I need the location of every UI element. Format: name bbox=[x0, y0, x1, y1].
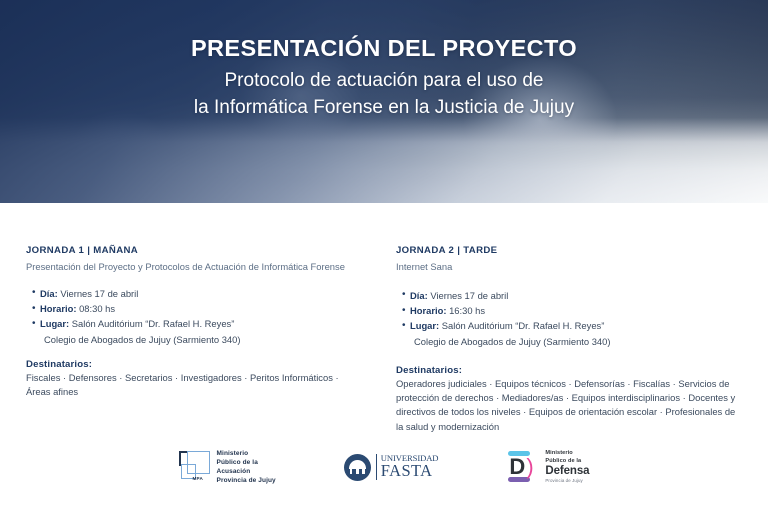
page-subtitle-line-1: Protocolo de actuación para el uso de bbox=[225, 70, 544, 91]
logo-universidad-fasta: UNIVERSIDAD FASTA bbox=[344, 454, 439, 481]
jornada-2-detail-list: Día: Viernes 17 de abril Horario: 16:30 … bbox=[396, 288, 746, 349]
detail-label: Horario: bbox=[410, 305, 446, 316]
mpa-line-3: Acusación bbox=[217, 468, 251, 475]
mpa-line-2: Público de la bbox=[217, 459, 258, 466]
page-title: PRESENTACIÓN DEL PROYECTO bbox=[0, 0, 768, 62]
list-item: Lugar: Salón Auditórium “Dr. Rafael H. R… bbox=[410, 318, 746, 348]
hero-text-block: PRESENTACIÓN DEL PROYECTO Protocolo de a… bbox=[0, 0, 768, 122]
detail-value: Salón Auditórium “Dr. Rafael H. Reyes” bbox=[442, 320, 605, 331]
jornada-2-title: JORNADA 2 | TARDE bbox=[396, 245, 746, 257]
jornada-2-description: Internet Sana bbox=[396, 260, 716, 273]
defensa-wordmark: Ministerio Público de la Defensa Provinc… bbox=[545, 450, 589, 483]
defensa-paren-icon: ) bbox=[526, 456, 533, 477]
jornada-2-destinatarios-body: Operadores judiciales · Equipos técnicos… bbox=[396, 377, 744, 434]
defensa-line-4: Provincia de Jujuy bbox=[545, 478, 589, 484]
detail-label: Día: bbox=[410, 290, 428, 301]
mpa-line-4: Provincia de Jujuy bbox=[217, 477, 276, 484]
detail-value: 08:30 hs bbox=[79, 303, 115, 314]
jornada-1-column: JORNADA 1 | MAÑANA Presentación del Proy… bbox=[0, 245, 368, 434]
detail-value: Salón Auditórium “Dr. Rafael H. Reyes” bbox=[72, 318, 235, 329]
detail-value: 16:30 hs bbox=[449, 305, 485, 316]
detail-subline: Colegio de Abogados de Jujuy (Sarmiento … bbox=[410, 334, 746, 349]
hero-banner: PRESENTACIÓN DEL PROYECTO Protocolo de a… bbox=[0, 0, 768, 203]
fasta-wordmark: UNIVERSIDAD FASTA bbox=[376, 454, 439, 480]
fasta-line-2: FASTA bbox=[381, 463, 439, 480]
jornada-1-destinatarios-title: Destinatarios: bbox=[26, 359, 358, 370]
list-item: Horario: 08:30 hs bbox=[40, 301, 358, 316]
content-area: JORNADA 1 | MAÑANA Presentación del Proy… bbox=[0, 203, 768, 513]
fasta-emblem-icon bbox=[344, 454, 371, 481]
flyer-root: PRESENTACIÓN DEL PROYECTO Protocolo de a… bbox=[0, 0, 768, 513]
defensa-line-2: Público de la bbox=[545, 458, 589, 465]
jornada-1-description: Presentación del Proyecto y Protocolos d… bbox=[26, 260, 346, 273]
logo-strip: MPA Ministerio Público de la Acusación P… bbox=[0, 439, 768, 495]
list-item: Día: Viernes 17 de abril bbox=[40, 286, 358, 301]
jornada-2-column: JORNADA 2 | TARDE Internet Sana Día: Vie… bbox=[368, 245, 768, 434]
logo-ministerio-publico-defensa: D ) Ministerio Público de la Defensa Pro… bbox=[506, 449, 589, 485]
jornada-2-destinatarios-title: Destinatarios: bbox=[396, 365, 746, 376]
defensa-letter-d: D bbox=[509, 456, 525, 477]
fasta-bars-icon bbox=[350, 463, 365, 474]
defensa-line-1: Ministerio bbox=[545, 450, 589, 457]
page-subtitle-line-2: la Informática Forense en la Justicia de… bbox=[0, 95, 768, 122]
detail-label: Lugar: bbox=[410, 320, 439, 331]
detail-label: Lugar: bbox=[40, 318, 69, 329]
jornadas-columns: JORNADA 1 | MAÑANA Presentación del Proy… bbox=[0, 245, 768, 434]
defensa-line-3: Defensa bbox=[545, 465, 589, 478]
list-item: Horario: 16:30 hs bbox=[410, 303, 746, 318]
list-item: Lugar: Salón Auditórium “Dr. Rafael H. R… bbox=[40, 316, 358, 346]
defensa-d-icon: D ) bbox=[506, 449, 540, 485]
logo-ministerio-publico-acusacion: MPA Ministerio Público de la Acusación P… bbox=[179, 449, 276, 486]
list-item: Día: Viernes 17 de abril bbox=[410, 288, 746, 303]
jornada-1-destinatarios-body: Fiscales · Defensores · Secretarios · In… bbox=[26, 371, 356, 400]
page-subtitle: Protocolo de actuación para el uso de la… bbox=[0, 62, 768, 122]
jornada-1-title: JORNADA 1 | MAÑANA bbox=[26, 245, 358, 257]
detail-value: Viernes 17 de abril bbox=[430, 290, 508, 301]
jornada-1-detail-list: Día: Viernes 17 de abril Horario: 08:30 … bbox=[26, 286, 358, 347]
mpa-wordmark: Ministerio Público de la Acusación Provi… bbox=[217, 449, 276, 486]
detail-subline: Colegio de Abogados de Jujuy (Sarmiento … bbox=[40, 332, 358, 347]
detail-value: Viernes 17 de abril bbox=[60, 288, 138, 299]
mpa-abbreviation: MPA bbox=[193, 476, 203, 481]
mpa-line-1: Ministerio bbox=[217, 450, 249, 457]
mpa-squares-icon: MPA bbox=[179, 450, 211, 484]
detail-label: Horario: bbox=[40, 303, 76, 314]
detail-label: Día: bbox=[40, 288, 58, 299]
